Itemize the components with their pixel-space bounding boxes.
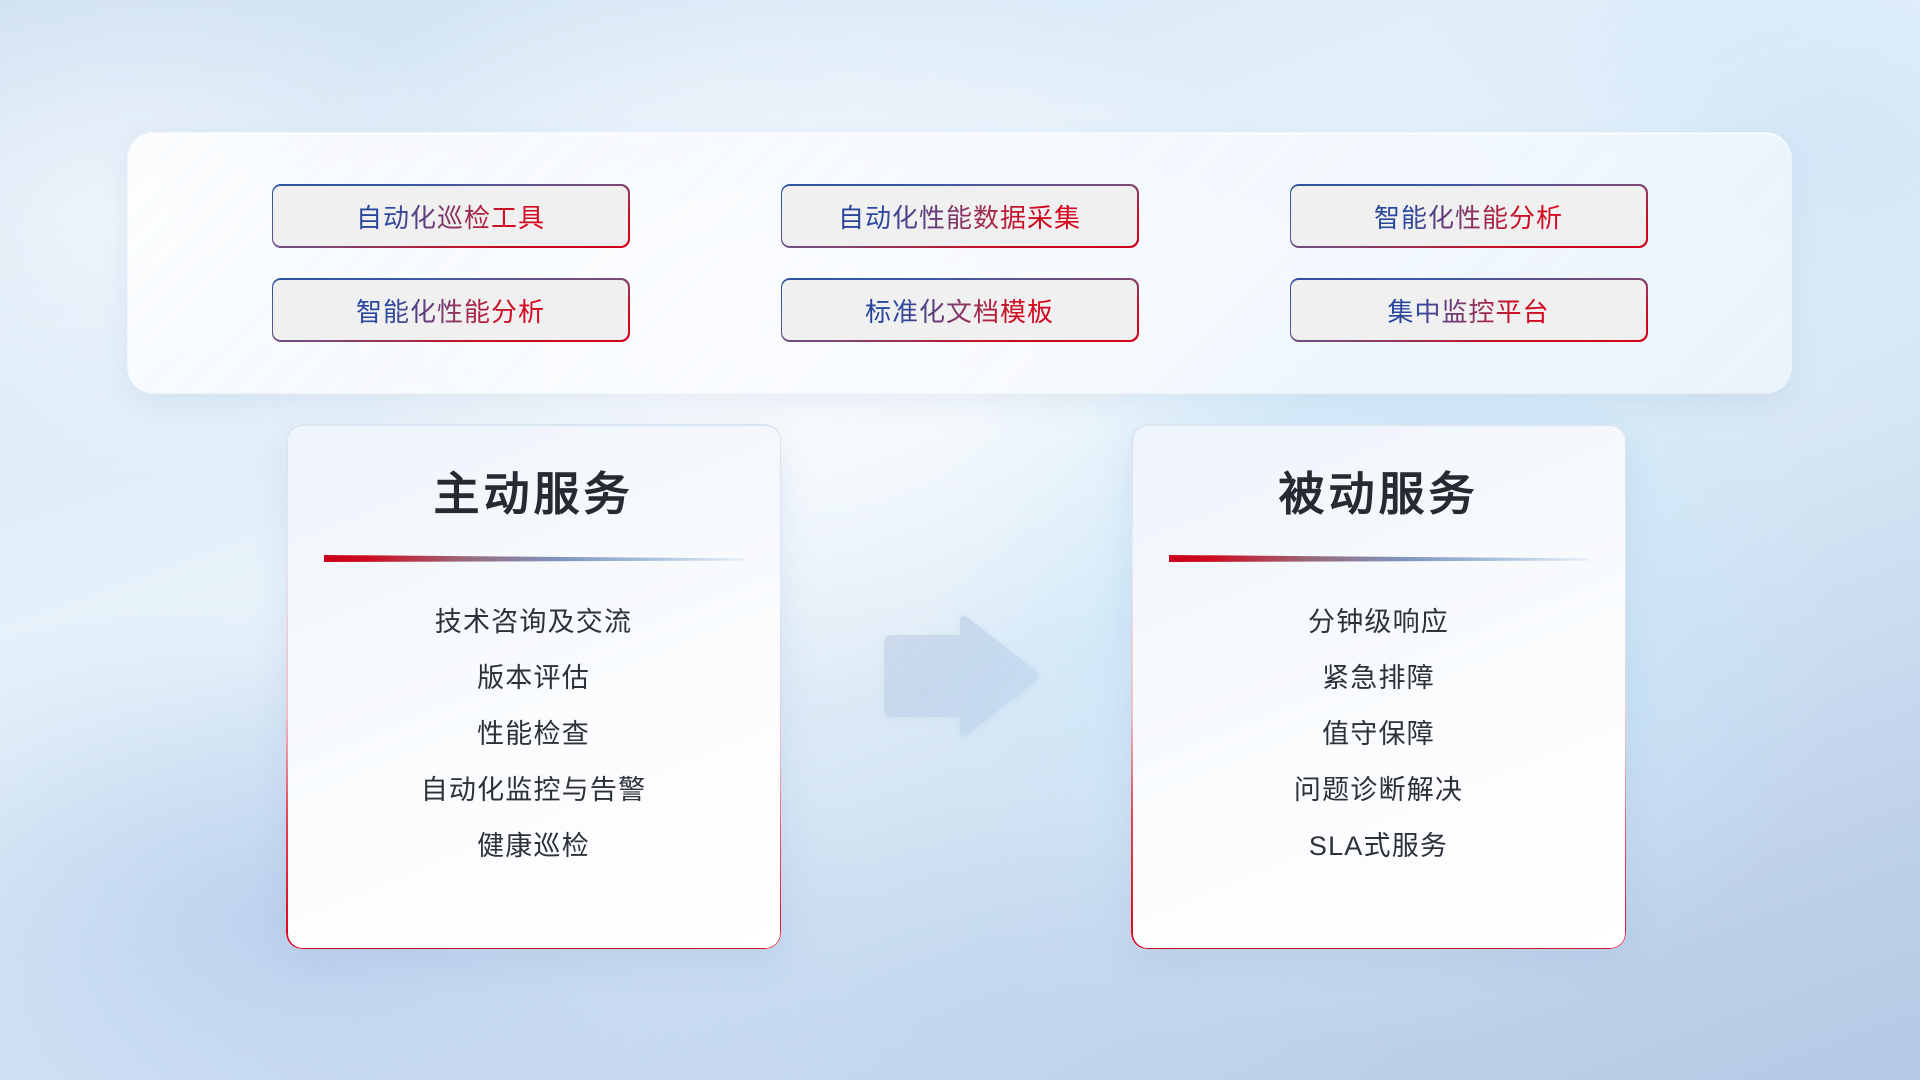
arrow-right-icon: [874, 613, 1040, 741]
card-title: 被动服务: [1131, 458, 1626, 524]
list-item: 自动化监控与告警: [286, 763, 781, 819]
capability-pill[interactable]: 集中监控平台: [1290, 278, 1648, 342]
capability-pill-label: 标准化文档模板: [865, 292, 1054, 329]
slide-canvas: 自动化巡检工具 自动化性能数据采集 智能化性能分析 智能化性能分析: [0, 0, 1920, 1080]
capability-pill-inner: 集中监控平台: [1291, 280, 1646, 341]
capability-pill-inner: 自动化性能数据采集: [782, 186, 1137, 247]
capability-pill-inner: 自动化巡检工具: [273, 186, 628, 247]
service-item-list: 分钟级响应 紧急排障 值守保障 问题诊断解决 SLA式服务: [1131, 595, 1626, 875]
list-item: 问题诊断解决: [1131, 763, 1626, 819]
service-card-active: 主动服务 技术咨询及交流 版本评估 性能检查: [286, 424, 781, 949]
capability-pill-label: 集中监控平台: [1387, 292, 1549, 329]
list-item: 分钟级响应: [1131, 595, 1626, 651]
card-title: 主动服务: [286, 458, 781, 524]
card-title-divider: [1169, 550, 1589, 561]
service-card-passive: 被动服务 分钟级响应 紧急排障 值守保障: [1131, 424, 1626, 949]
list-item: 技术咨询及交流: [286, 595, 781, 651]
capability-pill[interactable]: 标准化文档模板: [781, 278, 1139, 342]
divider-shape-icon: [324, 552, 744, 563]
list-item: 健康巡检: [286, 819, 781, 875]
capability-pill[interactable]: 自动化性能数据采集: [781, 184, 1139, 248]
capability-pill[interactable]: 智能化性能分析: [1290, 184, 1648, 248]
list-item: 值守保障: [1131, 707, 1626, 763]
list-item: 性能检查: [286, 707, 781, 763]
service-item-list: 技术咨询及交流 版本评估 性能检查 自动化监控与告警 健康巡检: [286, 595, 781, 875]
list-item: SLA式服务: [1131, 819, 1626, 875]
capability-pill-inner: 标准化文档模板: [782, 280, 1137, 341]
capability-pill[interactable]: 智能化性能分析: [272, 278, 630, 342]
card-title-divider: [324, 550, 744, 561]
capability-pill-label: 智能化性能分析: [356, 292, 545, 329]
capability-pill-inner: 智能化性能分析: [1291, 186, 1646, 247]
arrow-right-shape: [874, 613, 1040, 741]
divider-shape-icon: [1169, 552, 1589, 563]
capability-pill-label: 自动化性能数据采集: [838, 198, 1081, 235]
capability-pill-label: 智能化性能分析: [1374, 198, 1563, 235]
capability-pill-grid: 自动化巡检工具 自动化性能数据采集 智能化性能分析 智能化性能分析: [128, 184, 1791, 342]
list-item: 版本评估: [286, 651, 781, 707]
capability-pill[interactable]: 自动化巡检工具: [272, 184, 630, 248]
list-item: 紧急排障: [1131, 651, 1626, 707]
capability-tools-panel: 自动化巡检工具 自动化性能数据采集 智能化性能分析 智能化性能分析: [128, 133, 1791, 393]
capability-pill-inner: 智能化性能分析: [273, 280, 628, 341]
capability-pill-label: 自动化巡检工具: [356, 198, 545, 235]
